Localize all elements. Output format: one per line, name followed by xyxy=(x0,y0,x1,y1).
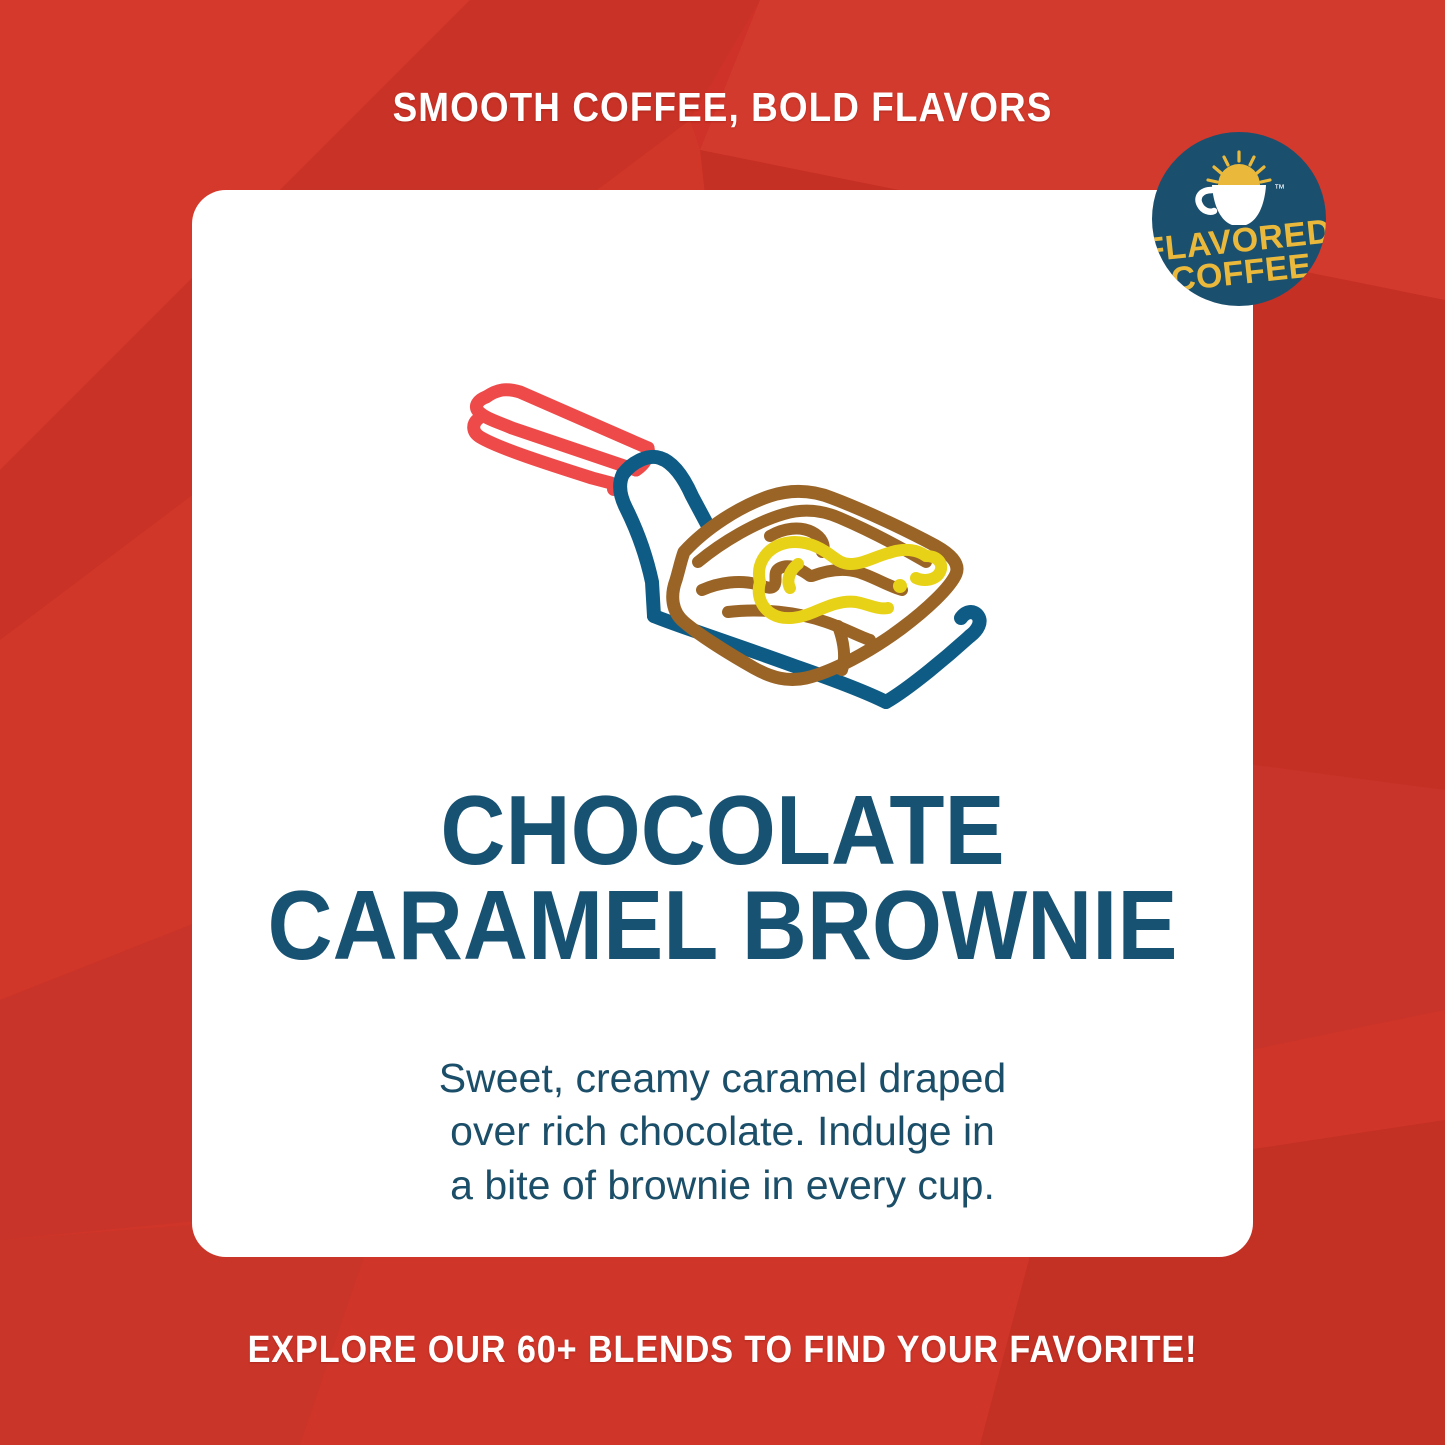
product-title-line-1: CHOCOLATE xyxy=(234,783,1210,878)
product-title-line-2: CARAMEL BROWNIE xyxy=(234,878,1210,973)
header-tagline: SMOOTH COFFEE, BOLD FLAVORS xyxy=(72,84,1373,131)
product-description-line-2: over rich chocolate. Indulge in xyxy=(192,1105,1253,1158)
footer-call-to-action: EXPLORE OUR 60+ BLENDS TO FIND YOUR FAVO… xyxy=(72,1329,1373,1372)
product-description-line-3: a bite of brownie in every cup. xyxy=(192,1159,1253,1212)
product-title: CHOCOLATE CARAMEL BROWNIE xyxy=(234,783,1210,973)
flavored-coffee-badge: ™ FLAVORED COFFEE xyxy=(1152,132,1326,306)
product-description-line-1: Sweet, creamy caramel draped xyxy=(192,1052,1253,1105)
spatula-with-brownie-illustration xyxy=(440,350,1010,720)
product-description: Sweet, creamy caramel draped over rich c… xyxy=(192,1052,1253,1212)
trademark-symbol: ™ xyxy=(1274,183,1285,195)
